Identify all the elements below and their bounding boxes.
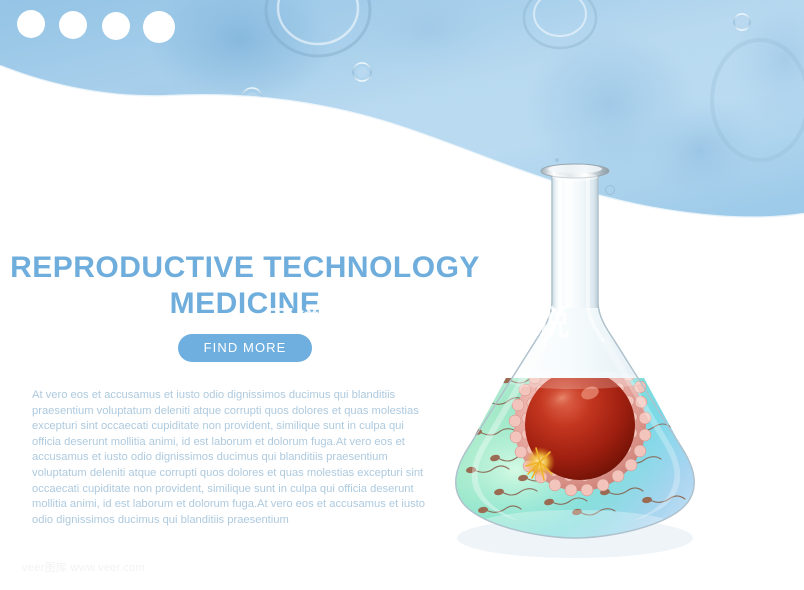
find-more-button[interactable]: FIND MORE bbox=[178, 334, 313, 362]
watermark-title-overlay: 开说 bbox=[268, 300, 322, 337]
watermark-center: 开说 bbox=[500, 296, 572, 345]
wave-dot-1 bbox=[17, 10, 45, 38]
page-title-line-2: MEDICINE bbox=[0, 286, 490, 322]
wave-dot-3 bbox=[102, 12, 130, 40]
body-paragraph: At vero eos et accusamus et iusto odio d… bbox=[32, 388, 432, 528]
cta-container: FIND MORE bbox=[0, 334, 490, 362]
page-title-line-1: REPRODUCTIVE TECHNOLOGY bbox=[0, 250, 490, 286]
wave-dot-2 bbox=[59, 11, 87, 39]
headline-block: REPRODUCTIVE TECHNOLOGY MEDICINE FIND MO… bbox=[0, 250, 490, 362]
watermark-bottom-left: veer图库 www.veer.com bbox=[22, 559, 145, 575]
poster-canvas: REPRODUCTIVE TECHNOLOGY MEDICINE FIND MO… bbox=[0, 0, 804, 590]
wave-dot-4 bbox=[143, 11, 175, 43]
